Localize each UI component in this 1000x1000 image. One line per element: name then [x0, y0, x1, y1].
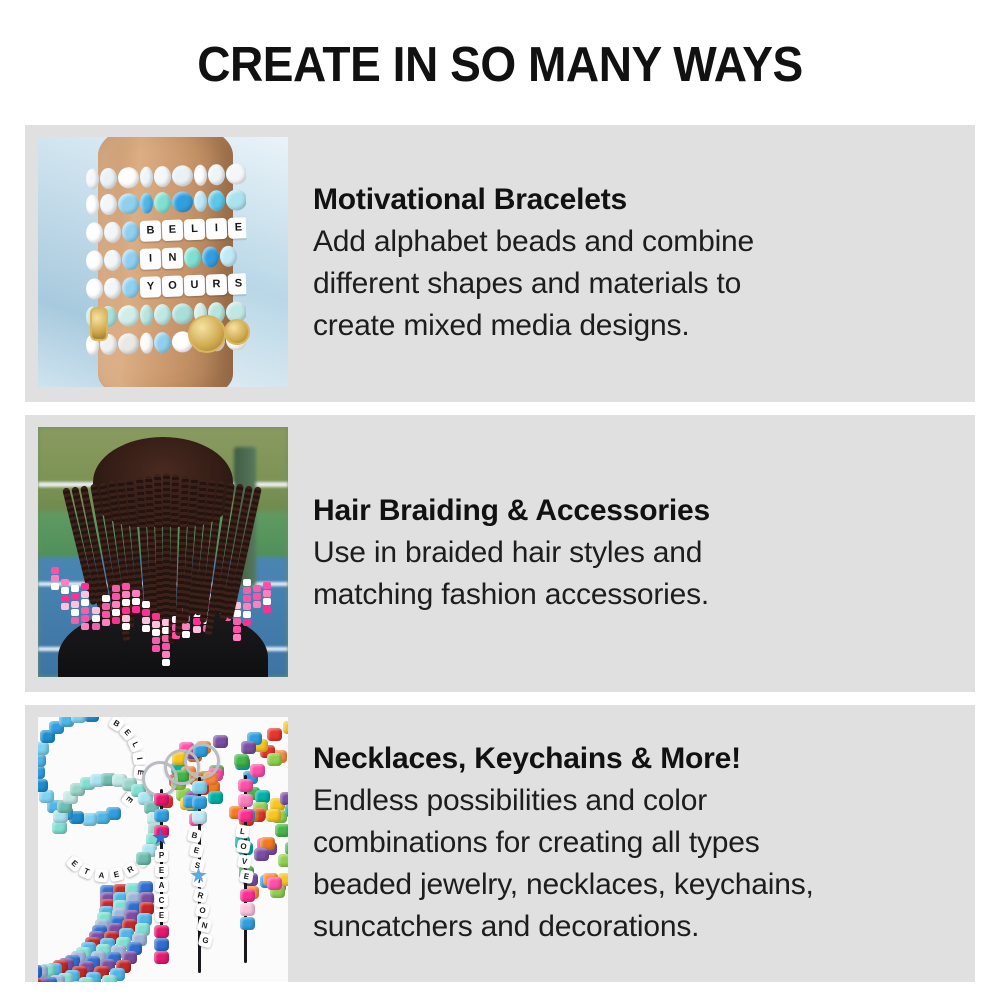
alphabet-bead: R — [205, 273, 227, 295]
alphabet-bead: O — [195, 903, 211, 919]
body-line: combinations for creating all types — [313, 822, 955, 864]
necklaces-keychains-photo: BELIEVECREATEPEACEBESTRONGLOVE — [38, 717, 288, 982]
hair-bead — [71, 617, 79, 624]
hair-bead — [112, 601, 120, 608]
bead — [121, 248, 139, 270]
hair-bead — [243, 587, 251, 594]
hair-bead — [152, 629, 160, 636]
pony-bead — [154, 925, 169, 938]
hair-bead — [112, 609, 120, 616]
bead — [85, 168, 99, 189]
beading-flatlay-illustration: BELIEVECREATEPEACEBESTRONGLOVE — [38, 717, 288, 982]
alphabet-bead: I — [132, 751, 147, 766]
alphabet-bead: I — [205, 217, 227, 239]
hair-bead — [152, 637, 160, 644]
hair-bead — [182, 623, 190, 630]
bar-charm-icon — [90, 307, 108, 341]
body-line: create mixed media designs. — [313, 305, 955, 347]
alphabet-bead: E — [109, 867, 124, 882]
bead — [201, 246, 219, 268]
bead — [183, 246, 201, 268]
hair-bead — [71, 585, 79, 592]
alphabet-bead: O — [161, 275, 183, 297]
pony-bead — [208, 791, 223, 804]
panel-heading: Motivational Bracelets — [313, 181, 955, 219]
hair-bead — [112, 617, 120, 624]
hair-bead — [102, 595, 110, 602]
pony-bead — [285, 804, 288, 817]
hair-bead — [71, 593, 79, 600]
hair-bead — [122, 615, 130, 622]
pony-bead — [38, 766, 45, 779]
pony-bead — [241, 741, 256, 754]
panel-body: Use in braided hair styles and matching … — [313, 532, 955, 616]
infographic-page: CREATE IN SO MANY WAYS BELIEVEINYOURSELF… — [0, 0, 1000, 1000]
pony-bead — [154, 793, 169, 806]
hair-bead — [61, 587, 69, 594]
alphabet-bead: R — [193, 888, 209, 904]
pony-bead — [240, 903, 255, 916]
bead — [139, 304, 153, 325]
hair-bead — [152, 621, 160, 628]
panel-text-block: Hair Braiding & Accessories Use in braid… — [313, 415, 955, 692]
hair-bead — [253, 593, 261, 600]
pony-bead — [39, 790, 54, 803]
bead — [103, 221, 121, 243]
hair-bead — [81, 615, 89, 622]
bead — [171, 303, 193, 325]
hair-braiding-photo — [38, 427, 288, 677]
bead — [117, 332, 139, 354]
bracelet-row: BELIEVE — [85, 214, 246, 246]
hair-bead — [132, 590, 140, 597]
hair-bead — [243, 595, 251, 602]
pony-bead — [285, 842, 288, 855]
bead — [139, 332, 153, 353]
alphabet-bead: A — [94, 868, 108, 882]
pony-bead — [280, 792, 288, 805]
bead — [121, 276, 139, 298]
pony-bead — [234, 754, 249, 767]
bead — [207, 163, 225, 185]
motivational-bracelets-photo: BELIEVEINYOURSELF — [38, 137, 288, 387]
pony-bead — [240, 917, 255, 930]
pony-bead — [267, 877, 282, 890]
hair-bead — [233, 634, 241, 641]
hair-bead — [71, 601, 79, 608]
pony-bead — [267, 753, 282, 766]
pony-bead — [154, 951, 169, 964]
alphabet-bead: U — [183, 274, 205, 296]
pony-bead — [84, 717, 99, 722]
pony-bead — [283, 721, 288, 734]
pony-bead — [192, 811, 207, 824]
bead — [193, 190, 207, 211]
pony-bead — [192, 781, 207, 794]
hair-bead — [122, 599, 130, 606]
body-line: different shapes and materials to — [313, 263, 955, 305]
hair-bead — [142, 609, 150, 616]
hair-bead — [81, 607, 89, 614]
hair-bead — [122, 607, 130, 614]
pony-bead — [192, 796, 207, 809]
bead — [171, 191, 193, 213]
bead — [225, 189, 246, 211]
hair-bead — [122, 623, 130, 630]
alphabet-bead: I — [139, 248, 161, 270]
alphabet-bead: E — [188, 843, 204, 859]
hair-bead — [253, 585, 261, 592]
hair-bead — [92, 607, 100, 614]
hair-bead — [61, 603, 69, 610]
hair-bead — [81, 591, 89, 598]
body-line: beaded jewelry, necklaces, keychains, — [313, 864, 955, 906]
bead — [99, 193, 117, 215]
hair-bead — [51, 583, 59, 590]
pony-bead — [275, 824, 288, 837]
panel-body: Endless possibilities and color combinat… — [313, 780, 955, 948]
feature-panel-necklaces-keychains: BELIEVECREATEPEACEBESTRONGLOVE Necklaces… — [25, 705, 975, 982]
braided-hair-illustration — [38, 427, 288, 677]
panel-text-block: Necklaces, Keychains & More! Endless pos… — [313, 705, 955, 982]
bracelet-row: IN — [85, 242, 246, 274]
hair-bead — [142, 625, 150, 632]
bead — [117, 304, 139, 326]
hair-bead — [92, 615, 100, 622]
bead — [171, 165, 193, 187]
pony-bead — [240, 889, 255, 902]
feature-panel-motivational-bracelets: BELIEVEINYOURSELF Motivational Bracelets… — [25, 125, 975, 402]
pony-bead — [238, 794, 253, 807]
bead — [103, 249, 121, 271]
hair-bead — [142, 617, 150, 624]
hair-bead — [263, 606, 271, 613]
pony-bead — [71, 981, 86, 982]
hair-bead — [51, 575, 59, 582]
pony-bead — [136, 852, 151, 865]
alphabet-bead: S — [227, 273, 246, 295]
pony-bead — [266, 809, 281, 822]
bead — [153, 331, 171, 353]
hair-bead — [243, 619, 251, 626]
hair-bead — [233, 626, 241, 633]
hair-bead — [193, 626, 201, 633]
bead — [225, 163, 246, 185]
bracelet-row — [85, 186, 246, 218]
pony-bead — [267, 728, 282, 741]
hair-bead — [132, 598, 140, 605]
pony-bead — [38, 779, 48, 792]
bead — [85, 194, 99, 215]
pony-bead — [238, 779, 253, 792]
alphabet-bead: A — [155, 879, 168, 892]
body-line: Use in braided hair styles and — [313, 532, 955, 574]
hair-bead — [92, 623, 100, 630]
bead — [85, 250, 103, 272]
pony-bead — [278, 854, 288, 867]
body-line: suncatchers and decorations. — [313, 906, 955, 948]
pony-bead — [38, 754, 46, 767]
heart-charm-icon — [224, 319, 250, 345]
hair-bead — [51, 567, 59, 574]
pony-bead — [238, 809, 253, 822]
alphabet-bead: L — [183, 218, 205, 240]
page-title: CREATE IN SO MANY WAYS — [30, 38, 970, 92]
alphabet-bead: N — [161, 247, 183, 269]
pony-bead — [38, 965, 42, 978]
bead — [153, 191, 171, 213]
pony-bead — [82, 813, 97, 826]
pony-bead — [255, 790, 270, 803]
hair-bead — [243, 579, 251, 586]
key-ring — [184, 743, 220, 779]
alphabet-bead: O — [236, 839, 251, 854]
pony-bead — [38, 742, 49, 755]
bead — [139, 166, 153, 187]
hair-bead — [122, 591, 130, 598]
bead — [121, 220, 139, 242]
alphabet-bead: E — [155, 864, 168, 877]
bead — [219, 245, 237, 267]
hair-bead — [263, 598, 271, 605]
alphabet-bead: P — [155, 849, 168, 862]
panel-heading: Hair Braiding & Accessories — [313, 492, 955, 530]
hair-bead — [112, 593, 120, 600]
alphabet-bead: E — [155, 909, 168, 922]
alphabet-bead: B — [139, 220, 161, 242]
hair-bead — [122, 583, 130, 590]
bead — [153, 303, 171, 325]
panel-body: Add alphabet beads and combine different… — [313, 221, 955, 347]
hair-bead — [81, 599, 89, 606]
hair-bead — [152, 613, 160, 620]
panel-text-block: Motivational Bracelets Add alphabet bead… — [313, 125, 955, 402]
hair-bead — [81, 583, 89, 590]
feature-panel-hair-braiding: Hair Braiding & Accessories Use in braid… — [25, 415, 975, 692]
hair-bead — [243, 611, 251, 618]
bead — [85, 222, 103, 244]
pony-bead — [154, 809, 169, 822]
body-line: Endless possibilities and color — [313, 780, 955, 822]
hair-bead — [182, 631, 190, 638]
bead — [103, 277, 121, 299]
hair-bead — [152, 645, 160, 652]
alphabet-bead: E — [239, 869, 254, 884]
bead — [117, 166, 139, 188]
alphabet-bead: L — [235, 824, 250, 839]
body-line: Add alphabet beads and combine — [313, 221, 955, 263]
hair-bead — [102, 619, 110, 626]
alphabet-bead: C — [155, 894, 168, 907]
hair-bead — [233, 618, 241, 625]
hair-bead — [162, 651, 170, 658]
bead — [99, 167, 117, 189]
alphabet-bead: E — [227, 217, 246, 239]
hair-bead — [61, 579, 69, 586]
bead — [117, 192, 139, 214]
alphabet-bead: Y — [139, 276, 161, 298]
pony-bead — [250, 764, 265, 777]
bead — [207, 189, 225, 211]
bracelet-row: YOURSELF — [85, 270, 246, 302]
tree-charm-icon — [188, 315, 226, 353]
hair-bead — [162, 659, 170, 666]
pony-bead — [254, 848, 269, 861]
bead — [85, 278, 103, 300]
bead — [139, 192, 153, 213]
hair-bead — [243, 603, 251, 610]
bead — [193, 164, 207, 185]
panel-heading: Necklaces, Keychains & More! — [313, 740, 955, 778]
bead — [153, 165, 171, 187]
hair-bead — [162, 643, 170, 650]
hair-bead — [71, 609, 79, 616]
pony-bead — [154, 938, 169, 951]
hair-bead — [142, 601, 150, 608]
bracelet-stack-illustration: BELIEVEINYOURSELF — [38, 137, 288, 387]
pony-bead — [102, 975, 117, 982]
hair-bead — [102, 603, 110, 610]
alphabet-bead: E — [161, 219, 183, 241]
hair-bead — [263, 582, 271, 589]
hair-bead — [263, 590, 271, 597]
hair-bead — [81, 623, 89, 630]
hair-bead — [132, 606, 140, 613]
pony-bead — [213, 735, 228, 748]
body-line: matching fashion accessories. — [313, 574, 955, 616]
hair-bead — [102, 611, 110, 618]
hair-bead — [253, 601, 261, 608]
hair-bead — [61, 595, 69, 602]
hair-bead — [112, 585, 120, 592]
alphabet-bead: G — [198, 933, 214, 949]
